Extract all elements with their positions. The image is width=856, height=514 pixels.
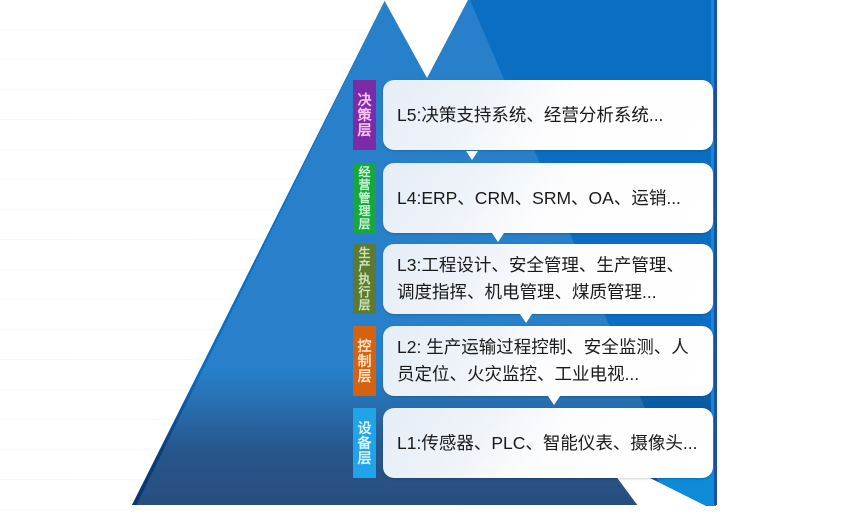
layer-card-text: L1:传感器、PLC、智能仪表、摄像头... <box>397 430 697 457</box>
slide-canvas: 决策层经营管理层生产执行层控制层设备层 L5:决策支持系统、经营分析系统...L… <box>0 0 856 514</box>
layer-tab-char: 行 <box>358 286 370 299</box>
layer-tab-char: 理 <box>358 205 370 218</box>
layer-card-text: L5:决策支持系统、经营分析系统... <box>397 102 663 129</box>
layer-tab-l2[interactable]: 控制层 <box>353 326 376 396</box>
layer-card-text: L3:工程设计、安全管理、生产管理、调度指挥、机电管理、煤质管理... <box>397 252 701 306</box>
connector-marker-1 <box>466 151 478 160</box>
pyramid-right-edge-dark <box>714 0 717 505</box>
layer-tab-char: 策 <box>358 108 372 123</box>
layer-tab-char: 设 <box>358 421 372 436</box>
layer-tab-char: 层 <box>358 218 370 231</box>
layer-card-l3[interactable]: L3:工程设计、安全管理、生产管理、调度指挥、机电管理、煤质管理... <box>383 244 713 314</box>
layer-card-l5[interactable]: L5:决策支持系统、经营分析系统... <box>383 80 713 150</box>
layer-card-l1[interactable]: L1:传感器、PLC、智能仪表、摄像头... <box>383 408 713 478</box>
layer-tab-l3[interactable]: 生产执行层 <box>353 244 376 314</box>
layer-tab-char: 产 <box>358 260 370 273</box>
layer-tab-char: 控 <box>358 339 372 354</box>
layer-tab-char: 生 <box>358 247 370 260</box>
layer-card-text: L4:ERP、CRM、SRM、OA、运销... <box>397 185 681 212</box>
layer-card-text: L2: 生产运输过程控制、安全监测、人员定位、火灾监控、工业电视... <box>397 334 701 388</box>
layer-tab-char: 层 <box>358 369 372 384</box>
layer-tab-char: 层 <box>358 123 372 138</box>
connector-marker-2 <box>492 233 504 242</box>
layer-card-l4[interactable]: L4:ERP、CRM、SRM、OA、运销... <box>383 163 713 233</box>
layer-tab-l4[interactable]: 经营管理层 <box>353 163 376 233</box>
layer-tab-char: 层 <box>358 299 370 312</box>
layer-tab-l1[interactable]: 设备层 <box>353 408 376 478</box>
layer-tab-char: 管 <box>358 192 370 205</box>
layer-tab-char: 层 <box>358 451 372 466</box>
connector-marker-4 <box>548 396 560 405</box>
layer-tab-char: 决 <box>358 93 372 108</box>
layer-tab-char: 备 <box>358 436 372 451</box>
connector-marker-3 <box>520 314 532 323</box>
layer-tab-char: 营 <box>358 179 370 192</box>
layer-tab-l5[interactable]: 决策层 <box>353 80 376 150</box>
layer-tab-char: 制 <box>358 354 372 369</box>
layer-tab-char: 执 <box>358 273 370 286</box>
layer-card-l2[interactable]: L2: 生产运输过程控制、安全监测、人员定位、火灾监控、工业电视... <box>383 326 713 396</box>
layer-tab-char: 经 <box>358 166 370 179</box>
